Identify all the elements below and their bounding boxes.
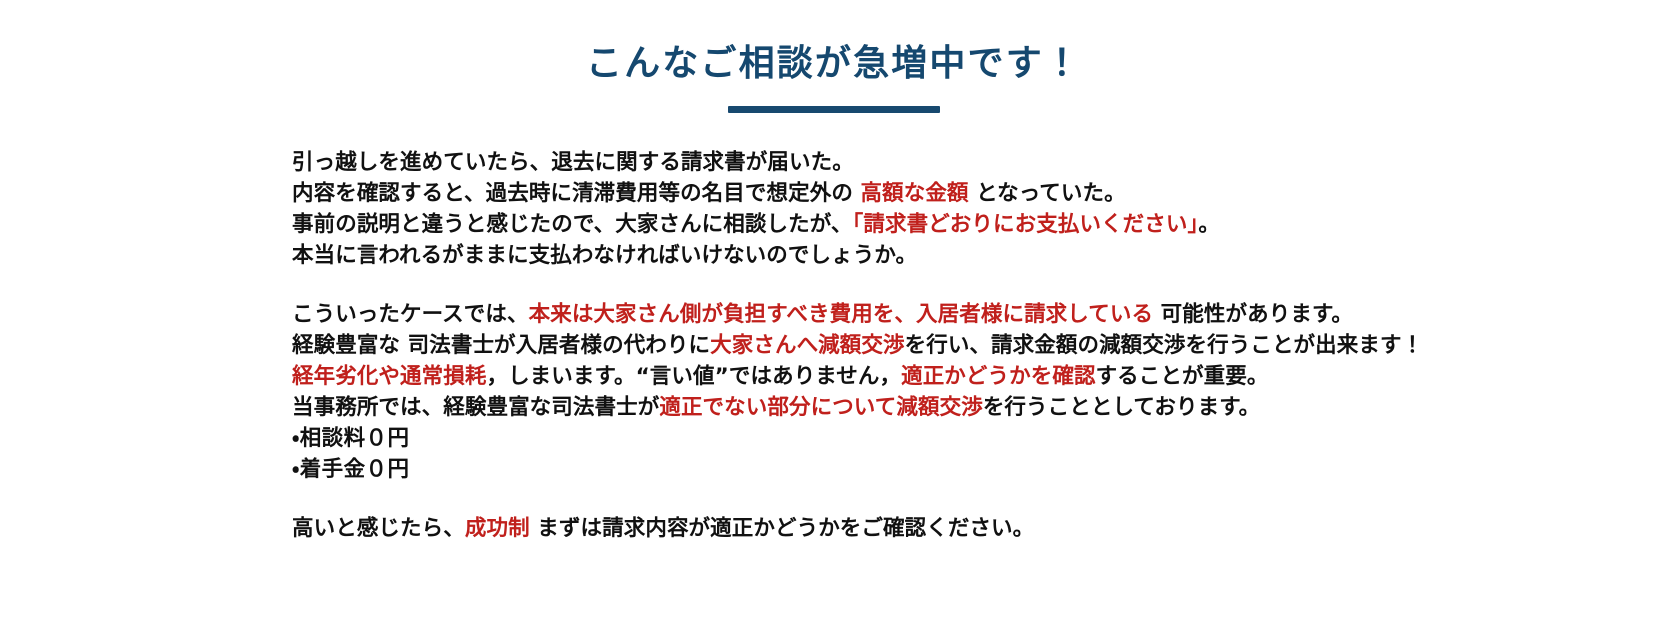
text-line: こういったケースでは、本来は大家さん側が負担すべき費用を、入居者様に請求している…	[292, 299, 1628, 330]
plain-text: することが重要。	[1096, 364, 1269, 389]
plain-text: となっていた。	[969, 181, 1126, 206]
title-divider	[728, 106, 940, 113]
plain-text: こういったケースでは、	[292, 302, 529, 327]
title-divider-wrap	[0, 106, 1668, 113]
plain-text: 当事務所では、経験豊富な司法書士が	[292, 395, 659, 420]
text-line: 引っ越しを進めていたら、退去に関する請求書が届いた。	[292, 147, 1628, 178]
emphasis-text: 高額な金額	[861, 181, 969, 206]
emphasis-text: 成功制	[465, 516, 530, 541]
paragraph-solution: こういったケースでは、本来は大家さん側が負担すべき費用を、入居者様に請求している…	[292, 299, 1628, 485]
plain-text: 経験豊富な 司法書士が入居者様の代わりに	[292, 333, 710, 358]
text-line: 当事務所では、経験豊富な司法書士が適正でない部分について減額交渉を行うこととして…	[292, 392, 1628, 423]
paragraph-call-to-action: 高いと感じたら、成功制 まずは請求内容が適正かどうかをご確認ください。	[292, 513, 1628, 544]
page-title: こんなご相談が急増中です！	[0, 44, 1668, 84]
emphasis-text: 大家さんへ減額交渉	[710, 333, 904, 358]
text-line: 経験豊富な 司法書士が入居者様の代わりに大家さんへ減額交渉を行い、請求金額の減額…	[292, 330, 1628, 361]
plain-text: 事前の説明と違うと感じたので、大家さんに相談したが、	[292, 212, 853, 237]
text-line: 事前の説明と違うと感じたので、大家さんに相談したが、「請求書どおりにお支払いくだ…	[292, 209, 1628, 240]
list-item: ・相談料０円	[292, 423, 1628, 454]
plain-text: ，しまいます。“言い値”ではありません，	[486, 364, 901, 389]
plain-text: を行うこととしております。	[983, 395, 1260, 420]
emphasis-text: 経年劣化や通常損耗	[292, 364, 486, 389]
plain-text: 内容を確認すると、過去時に清滞費用等の名目で想定外の	[292, 181, 861, 206]
page-header: こんなご相談が急増中です！	[0, 0, 1668, 113]
emphasis-text: 「請求書どおりにお支払いください」	[853, 212, 1199, 237]
text-line: 本当に言われるがままに支払わなければいけないのでしょうか。	[292, 240, 1628, 271]
emphasis-text: 本来は大家さん側が負担すべき費用を、入居者様に請求している	[529, 302, 1153, 327]
plain-text: ・着手金０円	[292, 457, 409, 482]
page-root: こんなご相談が急増中です！ 引っ越しを進めていたら、退去に関する請求書が届いた。…	[0, 0, 1668, 624]
plain-text: まずは請求内容が適正かどうかをご確認ください。	[530, 516, 1035, 541]
text-line: 内容を確認すると、過去時に清滞費用等の名目で想定外の 高額な金額 となっていた。	[292, 178, 1628, 209]
plain-text: を行い、請求金額の減額交渉を行うことが出来ます！	[905, 333, 1424, 358]
plain-text: ・相談料０円	[292, 426, 409, 451]
plain-text: 。	[1198, 212, 1220, 237]
list-item: ・着手金０円	[292, 454, 1628, 485]
plain-text: 可能性があります。	[1153, 302, 1353, 327]
emphasis-text: 適正でない部分について減額交渉	[659, 395, 982, 420]
plain-text: 引っ越しを進めていたら、退去に関する請求書が届いた。	[292, 150, 854, 175]
text-line: 高いと感じたら、成功制 まずは請求内容が適正かどうかをご確認ください。	[292, 513, 1628, 544]
emphasis-text: 適正かどうかを確認	[901, 364, 1095, 389]
plain-text: 本当に言われるがままに支払わなければいけないのでしょうか。	[292, 243, 917, 268]
body-copy: 引っ越しを進めていたら、退去に関する請求書が届いた。内容を確認すると、過去時に清…	[0, 147, 1668, 544]
paragraph-situation: 引っ越しを進めていたら、退去に関する請求書が届いた。内容を確認すると、過去時に清…	[292, 147, 1628, 271]
text-line: 経年劣化や通常損耗，しまいます。“言い値”ではありません，適正かどうかを確認する…	[292, 361, 1628, 392]
plain-text: 高いと感じたら、	[292, 516, 465, 541]
